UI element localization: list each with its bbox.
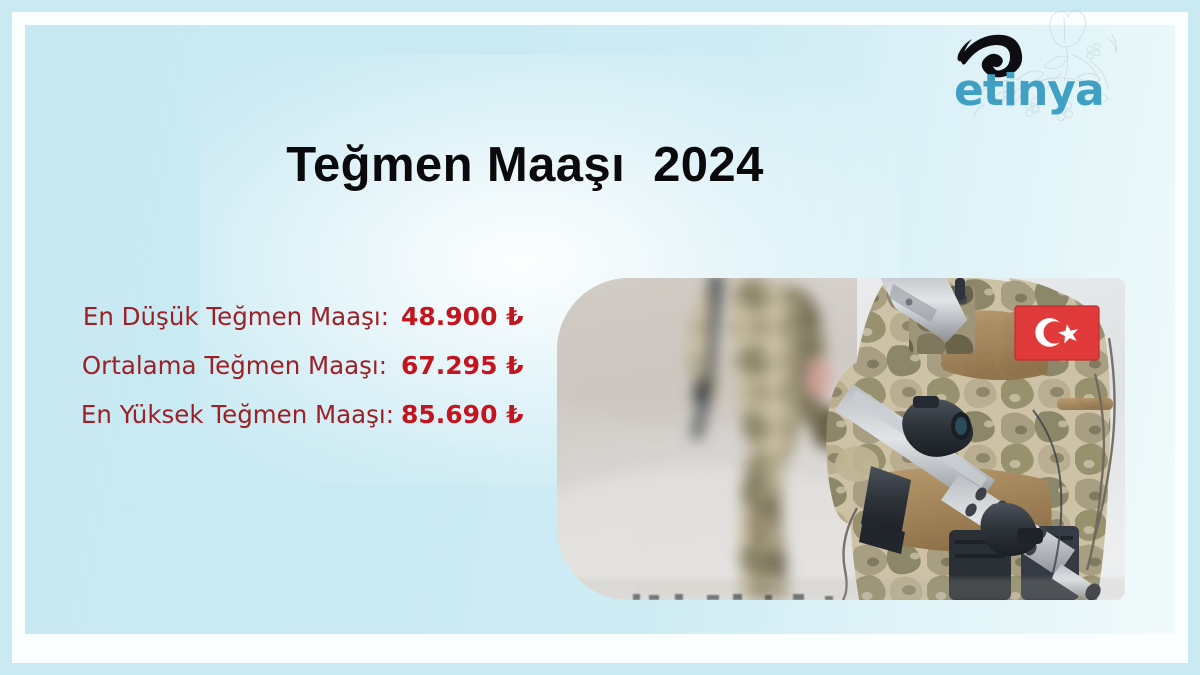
- list-item: Ortalama Teğmen Maaşı: 67.295 ₺: [33, 351, 533, 400]
- salary-value-highest: 85.690 ₺: [401, 400, 529, 429]
- salary-label-average: Ortalama Teğmen Maaşı:: [82, 351, 387, 380]
- salary-list: En Düşük Teğmen Maaşı: 48.900 ₺ Ortalama…: [33, 302, 533, 449]
- salary-value-lowest: 48.900 ₺: [401, 302, 529, 331]
- list-item: En Düşük Teğmen Maaşı: 48.900 ₺: [33, 302, 533, 351]
- salary-label-highest: En Yüksek Teğmen Maaşı:: [81, 400, 394, 429]
- brand-logo[interactable]: etinya: [940, 5, 1130, 125]
- poster-canvas: Teğmen Maaşı 2024 En Düşük Teğmen Maaşı:…: [0, 0, 1200, 675]
- salary-value-average: 67.295 ₺: [401, 351, 529, 380]
- brand-logo-artwork: etinya: [940, 5, 1130, 125]
- soldier-photo-artwork: [557, 278, 1125, 600]
- logo-wordmark: etinya: [954, 65, 1104, 116]
- list-item: En Yüksek Teğmen Maaşı: 85.690 ₺: [33, 400, 533, 449]
- salary-label-lowest: En Düşük Teğmen Maaşı:: [83, 302, 389, 331]
- page-title: Teğmen Maaşı 2024: [25, 137, 1025, 193]
- soldier-photo: [557, 278, 1125, 600]
